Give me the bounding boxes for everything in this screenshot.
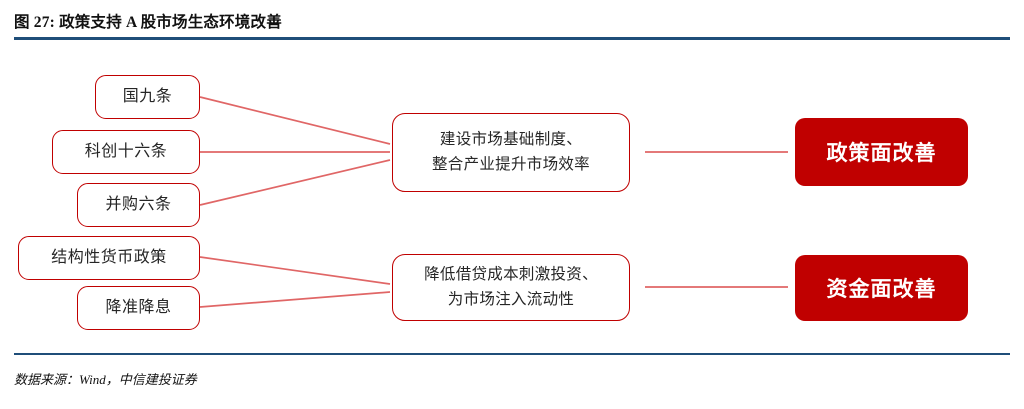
figure-header: 图 27: 政策支持 A 股市场生态环境改善	[0, 0, 1024, 44]
policy-node-label: 降准降息	[105, 298, 171, 317]
outcome-node-funds[interactable]: 降低借贷成本刺激投资、 为市场注入流动性	[392, 254, 630, 321]
policy-node-label: 国九条	[123, 87, 173, 106]
edge-jiegouxing-to-outcome-funds	[200, 257, 390, 284]
policy-node-jiangzhun[interactable]: 降准降息	[77, 286, 200, 330]
policy-node-label: 结构性货币政策	[51, 248, 167, 267]
policy-node-jiegouxing[interactable]: 结构性货币政策	[18, 236, 200, 280]
page-title: 图 27: 政策支持 A 股市场生态环境改善	[14, 10, 282, 32]
edge-guojiutiao-to-outcome-policy	[200, 97, 390, 144]
result-node-policy[interactable]: 政策面改善	[795, 118, 968, 186]
result-node-label: 政策面改善	[827, 137, 937, 167]
edge-binggou6-to-outcome-policy	[200, 160, 390, 205]
policy-node-label: 科创十六条	[85, 142, 168, 161]
flow-diagram: 国九条 科创十六条 并购六条 结构性货币政策 降准降息 建设市场基础制度、 整合…	[0, 44, 1024, 353]
policy-node-kechuang16[interactable]: 科创十六条	[52, 130, 200, 174]
footer-divider	[14, 353, 1010, 355]
outcome-node-line1: 降低借贷成本刺激投资、	[424, 263, 598, 287]
outcome-node-line1: 建设市场基础制度、	[440, 128, 582, 152]
policy-node-guojiutiao[interactable]: 国九条	[95, 75, 200, 119]
outcome-node-line2: 整合产业提升市场效率	[432, 153, 590, 177]
policy-node-binggou6[interactable]: 并购六条	[77, 183, 200, 227]
policy-node-label: 并购六条	[105, 195, 171, 214]
header-divider	[14, 37, 1010, 40]
result-node-label: 资金面改善	[827, 273, 937, 303]
result-node-funds[interactable]: 资金面改善	[795, 255, 968, 321]
edge-jiangzhun-to-outcome-funds	[200, 292, 390, 307]
outcome-node-line2: 为市场注入流动性	[448, 288, 574, 312]
figure-source: 数据来源：Wind，中信建投证券	[14, 369, 197, 388]
outcome-node-policy[interactable]: 建设市场基础制度、 整合产业提升市场效率	[392, 113, 630, 192]
